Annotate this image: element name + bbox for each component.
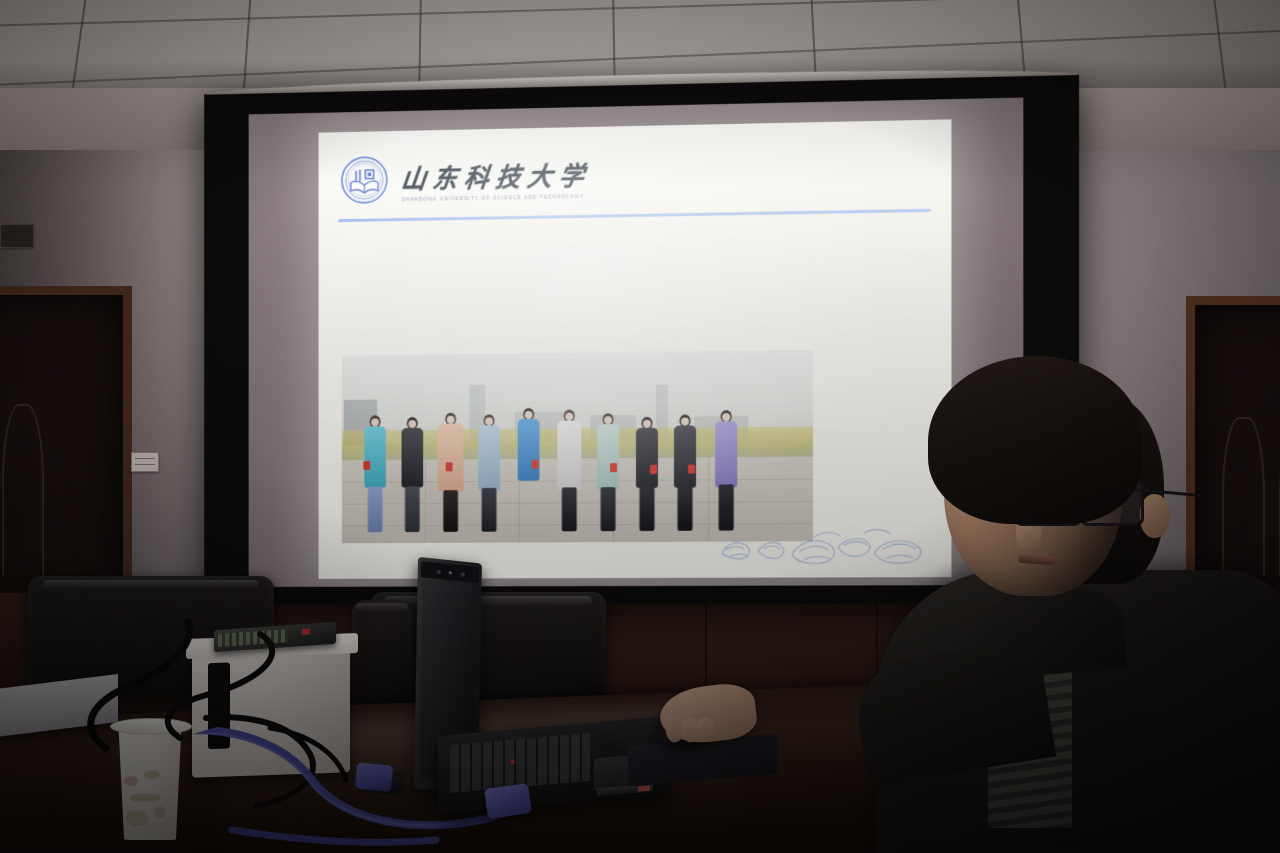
photo-person xyxy=(554,409,584,531)
photo-person xyxy=(712,410,740,531)
door-left[interactable] xyxy=(0,286,132,624)
photo-person xyxy=(475,414,503,532)
university-name-chinese: 山东科技大学 xyxy=(399,155,593,196)
projected-slide: 山东科技大学 SHANDONG UNIVERSITY OF SCIENCE AN… xyxy=(319,119,952,579)
slide-header: 山东科技大学 SHANDONG UNIVERSITY OF SCIENCE AN… xyxy=(340,151,591,205)
group-photo xyxy=(342,350,813,543)
laptop-indicator-light xyxy=(449,571,452,574)
photo-person xyxy=(436,412,466,531)
shandong-university-emblem xyxy=(340,155,389,205)
laptop-webcam xyxy=(437,570,441,574)
door-panel xyxy=(2,404,44,600)
laptop-sensor xyxy=(461,572,465,576)
touchpad-indicator xyxy=(638,786,650,792)
photo-person xyxy=(672,414,698,530)
presenter xyxy=(866,352,1280,853)
presenter-hair xyxy=(928,356,1142,524)
slide-divider-line xyxy=(338,209,931,222)
vga-connector-secondary[interactable] xyxy=(355,762,394,792)
photo-person xyxy=(515,408,543,532)
photo-person xyxy=(399,417,426,532)
university-title-block: 山东科技大学 SHANDONG UNIVERSITY OF SCIENCE AN… xyxy=(402,153,592,202)
photo-person xyxy=(361,415,388,532)
photo-person xyxy=(594,413,622,531)
vga-connector[interactable] xyxy=(484,783,532,819)
screenshot-scene: 山东科技大学 SHANDONG UNIVERSITY OF SCIENCE AN… xyxy=(0,0,1280,853)
wall-plate-left[interactable] xyxy=(0,224,34,248)
photo-person xyxy=(634,416,660,530)
wall-plate-center[interactable] xyxy=(131,452,159,472)
mouth xyxy=(1018,555,1056,566)
